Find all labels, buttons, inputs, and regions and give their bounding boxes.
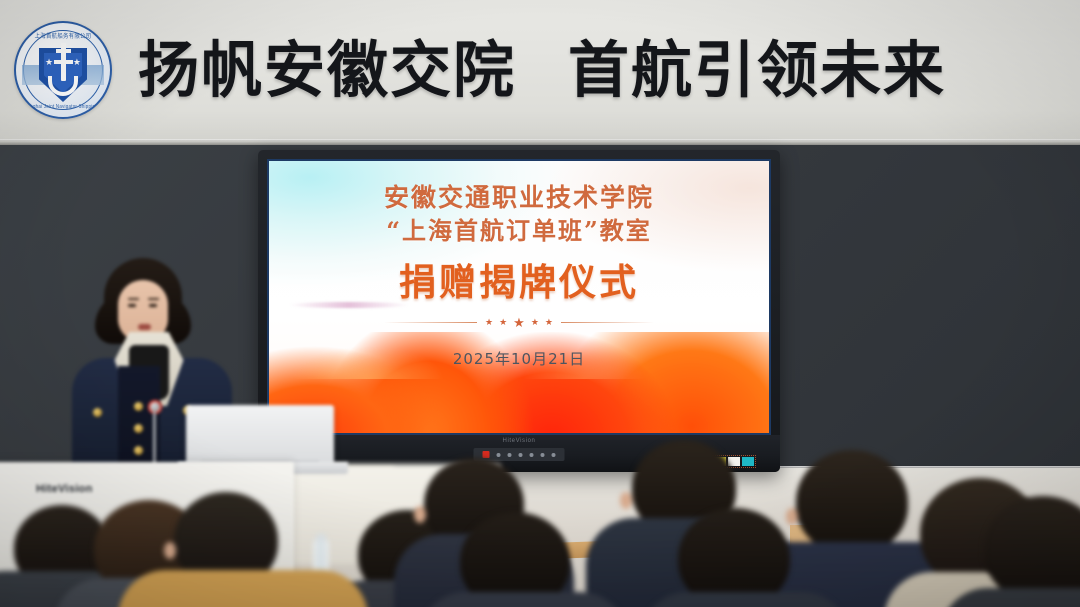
star-1-icon: ★: [485, 317, 493, 328]
speaker-eye-left: [128, 304, 136, 307]
star-5-icon: ★: [545, 317, 553, 328]
logo-star-right-icon: ★: [73, 57, 81, 68]
audience-9-ear: [786, 508, 798, 525]
slide-classroom-line: “上海首航订单班”教室: [386, 215, 652, 247]
star-2-icon: ★: [499, 317, 507, 328]
audience-8-shoulders: [640, 592, 850, 607]
control-key-6-icon[interactable]: [552, 453, 556, 457]
audience-6-shoulders: [418, 592, 628, 607]
presentation-photo-scene: 上海首航船务有限公司 ★ ★ Shanghai Joint Navigator …: [0, 0, 1080, 607]
star-4-icon: ★: [531, 317, 539, 328]
slide-main-title: 捐赠揭牌仪式: [399, 252, 639, 306]
slide-star-divider: ★ ★ ★ ★ ★: [384, 315, 654, 331]
slide-institution-line: 安徽交通职业技术学院: [384, 181, 654, 215]
audience-7-ear: [620, 492, 632, 509]
control-key-5-icon[interactable]: [541, 453, 545, 457]
microphone: [148, 400, 162, 470]
podium-laptop: [186, 405, 334, 467]
display-brand-label: HiteVision: [503, 438, 536, 444]
slide-date: 2025年10月21日: [453, 348, 585, 369]
display-screen[interactable]: 安徽交通职业技术学院 “上海首航订单班”教室 捐赠揭牌仪式 ★ ★ ★ ★ ★ …: [267, 159, 771, 435]
banner-slogan: 扬帆安徽交院 首航引领未来: [138, 40, 946, 101]
speaker-eye-right: [149, 304, 157, 307]
speaker-brow-left: [128, 298, 139, 300]
banner-slogan-right: 首航引领未来: [568, 40, 946, 101]
control-key-3-icon[interactable]: [519, 453, 523, 457]
power-button-icon[interactable]: [483, 451, 490, 458]
jacket-button-2: [134, 424, 143, 433]
audience-9-head: [796, 450, 908, 554]
bottle-cap: [316, 534, 326, 541]
banner-slogan-left: 扬帆安徽交院: [138, 40, 516, 101]
jacket-button-1: [134, 402, 143, 411]
jacket-button-3: [134, 446, 143, 455]
audience-3-ear: [164, 542, 176, 559]
audience-5-ear: [414, 506, 426, 523]
divider-line-left: [384, 322, 477, 323]
speaker-brow-right: [148, 298, 159, 300]
speaker-mouth: [138, 324, 151, 330]
jacket-button-left: [93, 408, 102, 417]
control-key-4-icon[interactable]: [530, 453, 534, 457]
slide-stars: ★ ★ ★ ★ ★: [485, 315, 553, 331]
star-3-icon: ★: [513, 315, 525, 331]
control-key-1-icon[interactable]: [497, 453, 501, 457]
sticker-cyan: [742, 457, 754, 466]
slide-text-block: 安徽交通职业技术学院 “上海首航订单班”教室 捐赠揭牌仪式 ★ ★ ★ ★ ★ …: [269, 161, 769, 433]
divider-line-right: [561, 322, 654, 323]
audience-3-shoulders: [118, 570, 368, 607]
control-key-2-icon[interactable]: [508, 453, 512, 457]
wall-banner: 上海首航船务有限公司 ★ ★ Shanghai Joint Navigator …: [0, 0, 1080, 140]
logo-bottom-text: Shanghai Joint Navigator Shipping Co.,Lt…: [22, 104, 105, 110]
podium-brand-label: HiteVision: [36, 483, 93, 495]
logo-top-text: 上海首航船务有限公司: [21, 31, 106, 40]
logo-star-left-icon: ★: [45, 57, 53, 68]
shipping-company-logo-icon: 上海首航船务有限公司 ★ ★ Shanghai Joint Navigator …: [14, 21, 112, 119]
interactive-display[interactable]: 安徽交通职业技术学院 “上海首航订单班”教室 捐赠揭牌仪式 ★ ★ ★ ★ ★ …: [258, 150, 780, 472]
